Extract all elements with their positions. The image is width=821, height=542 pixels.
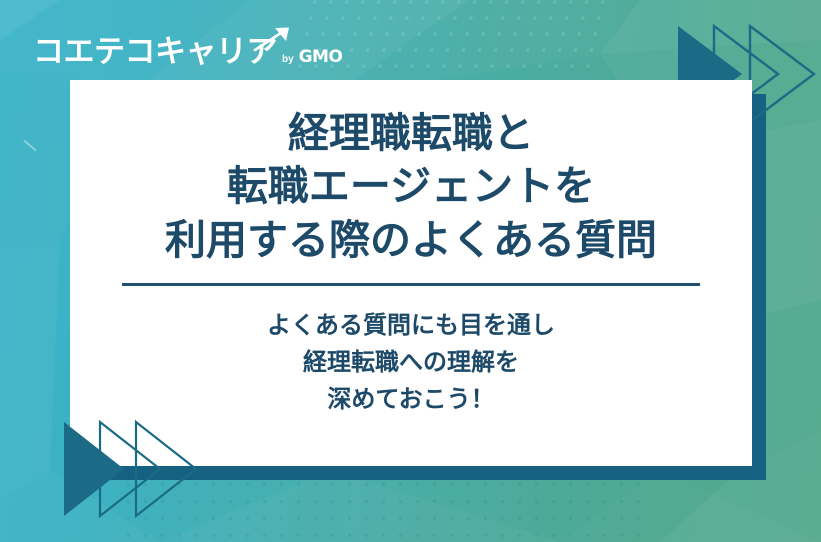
brand-logo-text: コエテコキャリア: [33, 37, 277, 68]
card-content: 経理職転職と 転職エージェントを 利用する際のよくある質問 よくある質問にも目を…: [70, 80, 752, 466]
title-line-1: 経理職転職と: [165, 107, 657, 160]
subtitle-line-3: 深めておこう！: [267, 381, 555, 418]
brand-logo[interactable]: コエテコキャリア by GMO: [33, 22, 342, 68]
title-line-2: 転職エージェントを: [165, 160, 657, 213]
arrow-up-right-icon: [253, 26, 293, 52]
title-line-3: 利用する際のよくある質問: [165, 214, 657, 267]
brand-logo-by: by: [282, 55, 294, 68]
title-divider: [122, 283, 700, 286]
subtitle-line-2: 経理転職への理解を: [267, 344, 555, 381]
promo-banner: コエテコキャリア by GMO 経理職転職と 転職エージェントを 利用する際のよ…: [0, 0, 821, 542]
subtitle-line-1: よくある質問にも目を通し: [267, 307, 555, 344]
page-title: 経理職転職と 転職エージェントを 利用する際のよくある質問: [165, 107, 657, 267]
brand-logo-gmo: GMO: [299, 49, 343, 68]
page-subtitle: よくある質問にも目を通し 経理転職への理解を 深めておこう！: [267, 307, 555, 418]
